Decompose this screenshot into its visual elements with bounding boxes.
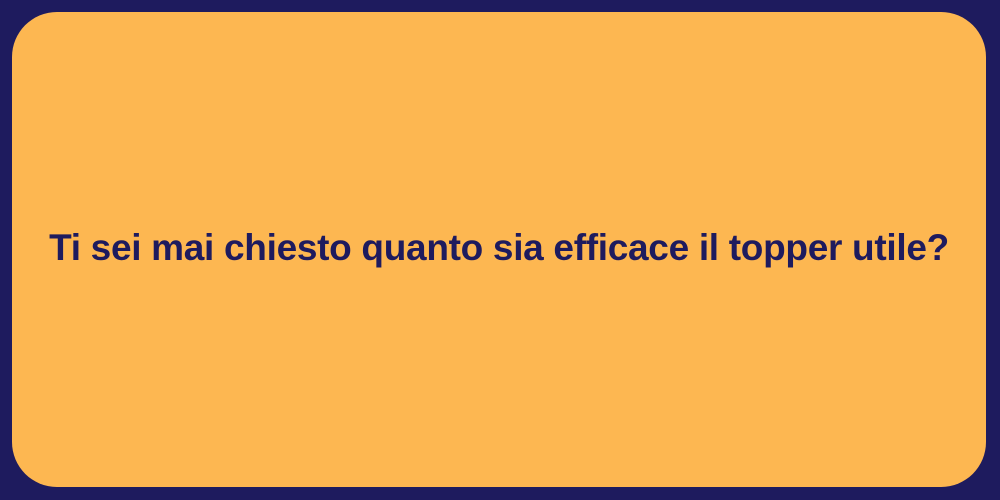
banner-headline: Ti sei mai chiesto quanto sia efficace i… xyxy=(9,225,989,271)
banner-panel: Ti sei mai chiesto quanto sia efficace i… xyxy=(12,12,986,487)
banner-frame: Ti sei mai chiesto quanto sia efficace i… xyxy=(0,0,1000,500)
